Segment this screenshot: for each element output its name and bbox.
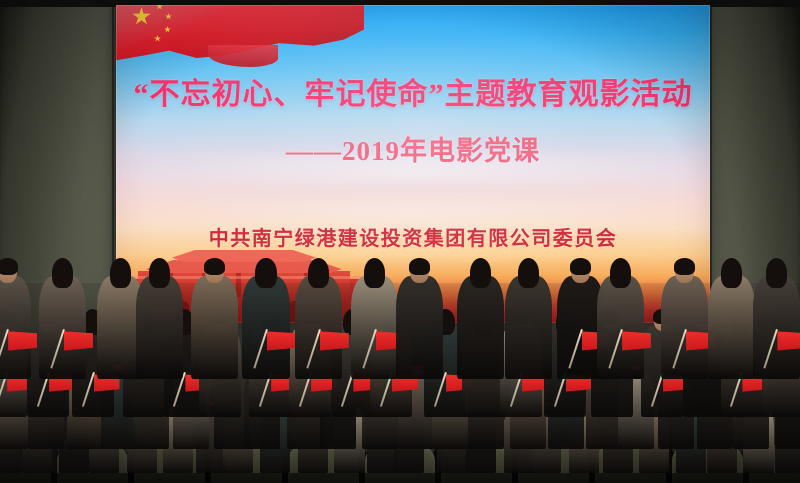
attendee xyxy=(661,252,708,379)
attendee-torso xyxy=(396,276,443,379)
attendee xyxy=(295,252,342,379)
attendee-hair xyxy=(0,258,18,274)
slide-organization: 中共南宁绿港建设投资集团有限公司委员会 xyxy=(116,222,710,251)
handheld-chinese-flag xyxy=(320,331,349,360)
attendee-hair xyxy=(364,258,385,287)
attendee xyxy=(396,252,443,379)
attendee-hair xyxy=(308,258,329,287)
attendee-hair xyxy=(255,258,276,287)
slide-title-main: “不忘初心、牢记使命”主题教育观影活动 xyxy=(116,69,710,113)
attendee xyxy=(191,252,238,379)
flag-cloth xyxy=(64,331,93,350)
handheld-chinese-flag xyxy=(64,331,93,360)
attendee xyxy=(351,252,398,379)
handheld-chinese-flag xyxy=(8,331,37,360)
attendee xyxy=(0,252,31,379)
flag-cloth xyxy=(320,331,349,350)
flag-cloth xyxy=(267,331,296,350)
attendee-hair xyxy=(518,258,539,287)
attendee-hair xyxy=(674,258,695,274)
flag-cloth xyxy=(622,331,651,350)
attendee xyxy=(457,252,504,379)
attendee-torso xyxy=(136,276,183,379)
attendee xyxy=(505,252,552,379)
attendee xyxy=(597,252,644,379)
attendee-torso xyxy=(708,276,755,379)
attendee-hair xyxy=(204,258,225,274)
handheld-chinese-flag xyxy=(267,331,296,360)
attendee xyxy=(242,252,289,379)
attendee-torso xyxy=(191,276,238,379)
attendee-hair xyxy=(570,258,591,274)
attendee-torso xyxy=(753,276,800,379)
handheld-chinese-flag xyxy=(622,331,651,360)
slide-title-sub: ——2019年电影党课 xyxy=(116,129,710,168)
attendee-torso xyxy=(457,276,504,379)
chinese-national-flag xyxy=(116,5,364,63)
attendee-torso xyxy=(351,276,398,379)
attendee-hair xyxy=(721,258,742,287)
attendee-hair xyxy=(766,258,787,287)
handheld-chinese-flag xyxy=(777,331,800,360)
flag-cloth xyxy=(777,331,800,350)
floor-shadow xyxy=(0,473,800,483)
attendee-hair xyxy=(610,258,631,287)
attendee-hair xyxy=(52,258,73,287)
attendee-torso xyxy=(661,276,708,379)
attendee-hair xyxy=(110,258,131,287)
attendee-torso xyxy=(597,276,644,379)
event-photo: “不忘初心、牢记使命”主题教育观影活动 ——2019年电影党课 中共南宁绿港建设… xyxy=(0,0,800,483)
attendee xyxy=(753,252,800,379)
attendee-hair xyxy=(409,258,430,274)
attendee-torso xyxy=(39,276,86,379)
attendee-hair xyxy=(470,258,491,287)
attendee-torso xyxy=(505,276,552,379)
attendee-torso xyxy=(0,276,31,379)
flag-cloth xyxy=(8,331,37,350)
attendee-torso xyxy=(242,276,289,379)
attendee xyxy=(39,252,86,379)
attendee-hair xyxy=(149,258,170,287)
attendee-torso xyxy=(295,276,342,379)
attendee xyxy=(136,252,183,379)
attendee xyxy=(708,252,755,379)
